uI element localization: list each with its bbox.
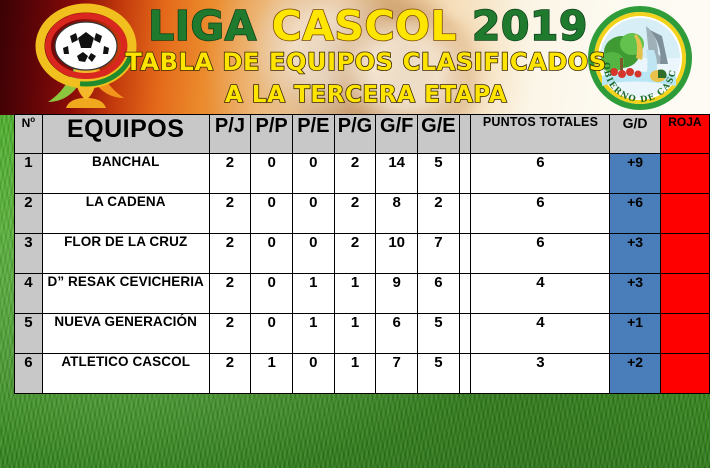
row-goals-for: 14 [376, 154, 418, 194]
column-header-spacer [459, 115, 471, 154]
row-played: 2 [209, 194, 251, 234]
column-header-pg: P/G [334, 115, 376, 154]
row-drawn: 1 [292, 274, 334, 314]
row-goals-against: 6 [418, 274, 460, 314]
row-lost: 0 [251, 274, 293, 314]
title-year: 2019 [472, 2, 588, 50]
row-spacer [459, 194, 471, 234]
row-total-points: 6 [471, 234, 610, 274]
table-row: 3FLOR DE LA CRUZ20021076+3 [15, 234, 710, 274]
row-spacer [459, 274, 471, 314]
row-lost: 0 [251, 194, 293, 234]
column-header-pp: P/P [251, 115, 293, 154]
table-row: 1BANCHAL20021456+9 [15, 154, 710, 194]
row-total-points: 3 [471, 354, 610, 394]
row-red-cards [660, 314, 709, 354]
row-goals-for: 8 [376, 194, 418, 234]
row-team-name: BANCHAL [42, 154, 209, 194]
row-goals-against: 5 [418, 154, 460, 194]
subtitle-line-2: A LA TERCERA ETAPA [0, 82, 710, 108]
title-liga: LIGA [148, 2, 272, 50]
row-goal-diff: +6 [610, 194, 660, 234]
row-goal-diff: +1 [610, 314, 660, 354]
row-lost: 0 [251, 154, 293, 194]
row-drawn: 1 [292, 314, 334, 354]
page-title: LIGA CASCOL 2019 [0, 4, 710, 48]
column-header-gd: G/D [610, 115, 660, 154]
row-drawn: 0 [292, 154, 334, 194]
row-red-cards [660, 194, 709, 234]
title-cascol: CASCOL [272, 2, 472, 50]
row-goals-for: 6 [376, 314, 418, 354]
column-header-gf: G/F [376, 115, 418, 154]
row-team-name: ATLETICO CASCOL [42, 354, 209, 394]
row-drawn: 0 [292, 234, 334, 274]
row-goals-against: 2 [418, 194, 460, 234]
row-goals-for: 9 [376, 274, 418, 314]
row-team-name: FLOR DE LA CRUZ [42, 234, 209, 274]
row-won: 1 [334, 354, 376, 394]
row-total-points: 4 [471, 274, 610, 314]
table-header: No EQUIPOS P/J P/P P/E P/G G/F G/E PUNTO… [15, 115, 710, 154]
row-goal-diff: +3 [610, 274, 660, 314]
column-header-pj: P/J [209, 115, 251, 154]
row-goal-diff: +9 [610, 154, 660, 194]
row-red-cards [660, 154, 709, 194]
row-played: 2 [209, 274, 251, 314]
row-won: 2 [334, 194, 376, 234]
row-goals-against: 5 [418, 314, 460, 354]
row-won: 2 [334, 234, 376, 274]
row-team-name: LA CADENA [42, 194, 209, 234]
column-header-roja: ROJA [660, 115, 709, 154]
row-lost: 0 [251, 314, 293, 354]
table-row: 4D” RESAK CEVICHERIA2011964+3 [15, 274, 710, 314]
row-position: 3 [15, 234, 43, 274]
table-body: 1BANCHAL20021456+92LA CADENA2002826+63FL… [15, 154, 710, 394]
row-goal-diff: +3 [610, 234, 660, 274]
row-red-cards [660, 234, 709, 274]
row-spacer [459, 314, 471, 354]
column-header-number: No [15, 115, 43, 154]
row-position: 1 [15, 154, 43, 194]
row-lost: 1 [251, 354, 293, 394]
row-red-cards [660, 354, 709, 394]
row-played: 2 [209, 234, 251, 274]
row-goal-diff: +2 [610, 354, 660, 394]
row-won: 2 [334, 154, 376, 194]
row-spacer [459, 234, 471, 274]
row-lost: 0 [251, 234, 293, 274]
row-drawn: 0 [292, 194, 334, 234]
table-row: 5NUEVA GENERACIÓN2011654+1 [15, 314, 710, 354]
row-position: 2 [15, 194, 43, 234]
row-played: 2 [209, 314, 251, 354]
subtitle-line-1: TABLA DE EQUIPOS CLASIFICADOS [0, 48, 710, 76]
column-header-pe: P/E [292, 115, 334, 154]
row-goals-for: 10 [376, 234, 418, 274]
standings-table: No EQUIPOS P/J P/P P/E P/G G/F G/E PUNTO… [14, 114, 710, 394]
row-goals-for: 7 [376, 354, 418, 394]
table-row: 6ATLETICO CASCOL2101753+2 [15, 354, 710, 394]
row-played: 2 [209, 354, 251, 394]
row-team-name: D” RESAK CEVICHERIA [42, 274, 209, 314]
row-position: 4 [15, 274, 43, 314]
row-spacer [459, 154, 471, 194]
row-total-points: 6 [471, 154, 610, 194]
row-played: 2 [209, 154, 251, 194]
row-goals-against: 5 [418, 354, 460, 394]
row-total-points: 4 [471, 314, 610, 354]
column-header-teams: EQUIPOS [42, 115, 209, 154]
row-red-cards [660, 274, 709, 314]
row-total-points: 6 [471, 194, 610, 234]
row-won: 1 [334, 314, 376, 354]
row-position: 5 [15, 314, 43, 354]
header-row: No EQUIPOS P/J P/P P/E P/G G/F G/E PUNTO… [15, 115, 710, 154]
column-header-ge: G/E [418, 115, 460, 154]
row-won: 1 [334, 274, 376, 314]
row-goals-against: 7 [418, 234, 460, 274]
column-header-puntos-totales: PUNTOS TOTALES [471, 115, 610, 154]
row-drawn: 0 [292, 354, 334, 394]
table-row: 2LA CADENA2002826+6 [15, 194, 710, 234]
row-spacer [459, 354, 471, 394]
row-team-name: NUEVA GENERACIÓN [42, 314, 209, 354]
row-position: 6 [15, 354, 43, 394]
standings-poster: GOBIERNO DE CASCOL LIGA CASCOL 2019 TABL… [0, 0, 710, 468]
